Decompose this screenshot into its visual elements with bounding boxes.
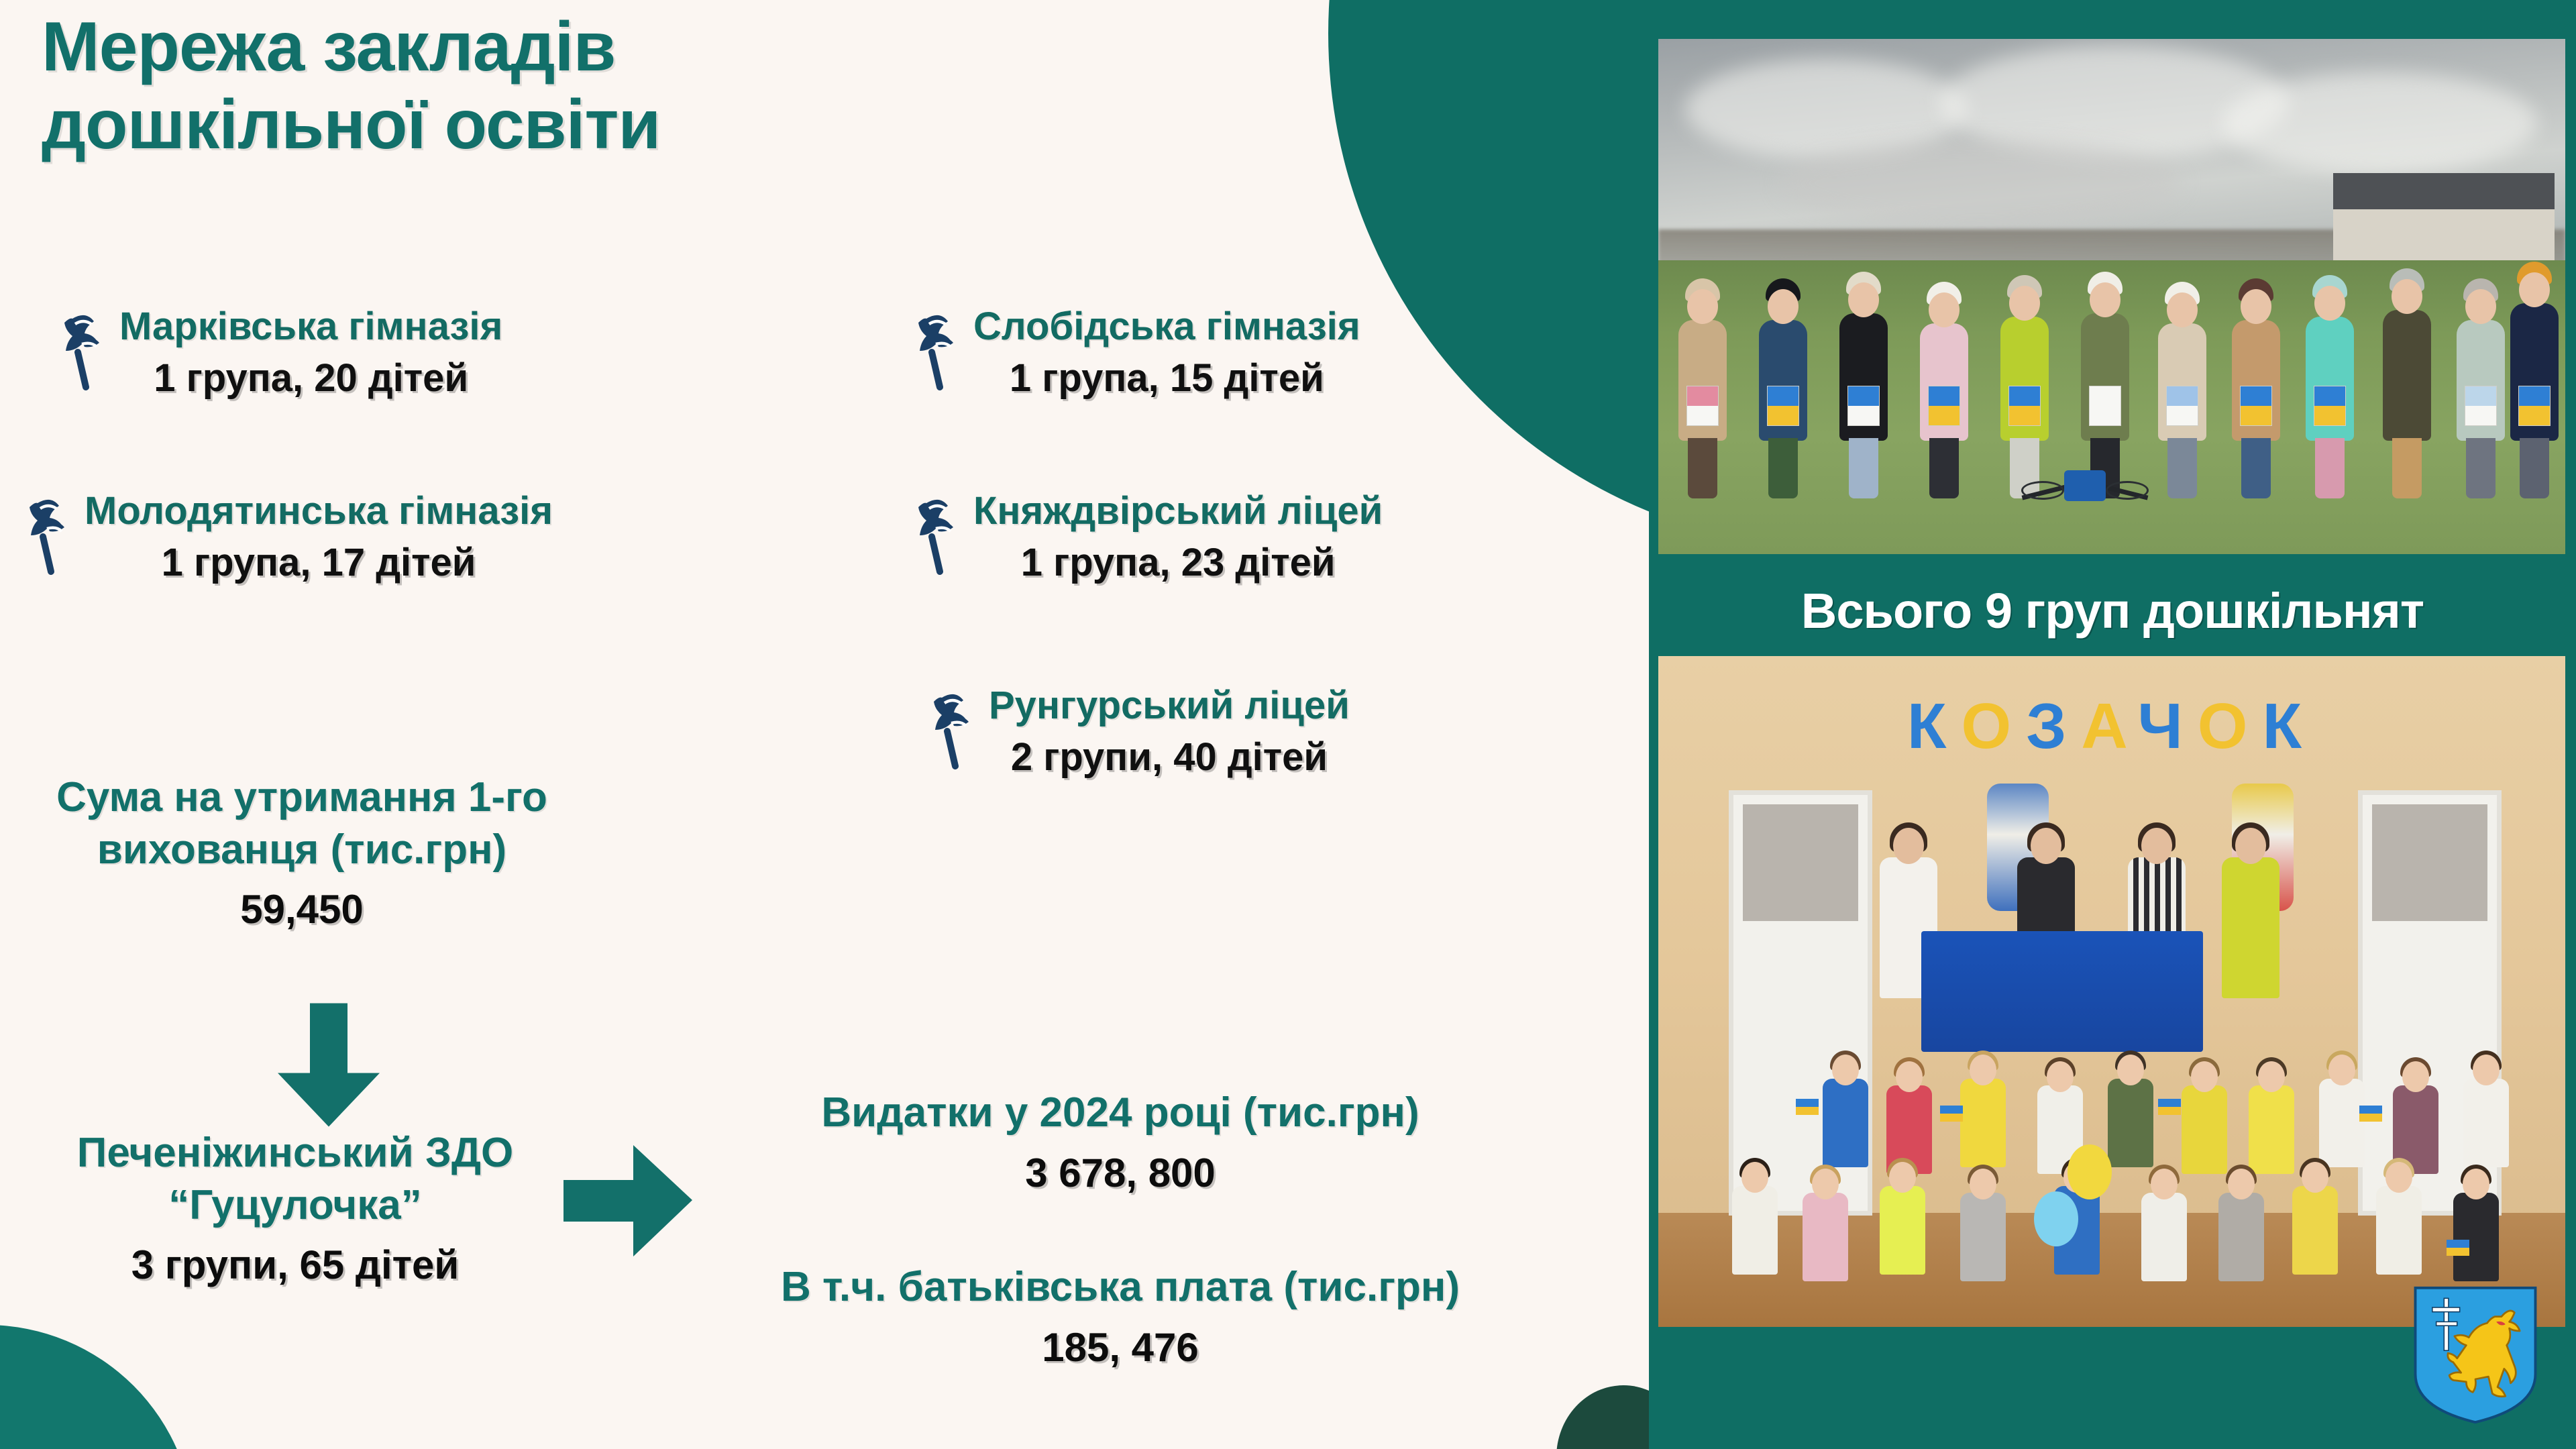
child-head <box>1741 1162 1768 1193</box>
photo1-child <box>2457 320 2505 441</box>
institution-detail: 1 група, 20 дітей <box>119 356 502 400</box>
photo1-child-head <box>1848 282 1879 317</box>
photo1-child-head <box>2167 292 2198 327</box>
photo2-wall-word: КОЗАЧОК <box>1658 690 2565 763</box>
photo1-child <box>1920 323 1968 441</box>
institution-item-knyazhdvirskyi[interactable]: Княждвірський ліцей 1 група, 23 дітей <box>909 490 1383 585</box>
child-head <box>2117 1055 2144 1085</box>
pushpin-icon <box>909 494 965 577</box>
photo2-child <box>1880 1186 1925 1275</box>
photo1-child-legs <box>2466 438 2495 498</box>
photo1-drone <box>2021 465 2149 508</box>
photo2-child <box>1960 1193 2006 1281</box>
photo1-child-legs <box>2315 438 2345 498</box>
door-glass <box>2372 804 2487 921</box>
photo1-child <box>2081 313 2129 441</box>
photo1-child-legs <box>2392 438 2422 498</box>
parent-fee-label: В т.ч. батьківська плата (тис.грн) <box>678 1261 1563 1313</box>
door-glass <box>1743 804 1858 921</box>
photo1-child <box>2158 323 2206 441</box>
photo1-child-head <box>2519 272 2550 307</box>
child-head <box>2228 1169 2255 1199</box>
arrow-down-icon <box>262 1003 396 1130</box>
photo2-child <box>2182 1085 2227 1174</box>
photo1-drawing <box>2465 386 2497 426</box>
photo2-child <box>2249 1085 2294 1174</box>
photo-children-outdoors <box>1658 39 2565 554</box>
institution-item-molodyatynska[interactable]: Молодятинська гімназія 1 група, 17 дітей <box>20 490 553 585</box>
photo1-drawing <box>1767 386 1799 426</box>
photo1-child-head <box>1768 289 1799 324</box>
photo2-child <box>2108 1079 2153 1167</box>
child-head <box>1812 1169 1839 1199</box>
photo1-child-legs <box>1849 438 1878 498</box>
photo1-child <box>2510 303 2559 441</box>
photo2-child <box>1960 1079 2006 1167</box>
photo1-child-legs <box>2167 438 2197 498</box>
photo2-child <box>2218 1193 2264 1281</box>
expenses-block: Видатки у 2024 році (тис.грн) 3 678, 800 <box>678 1087 1563 1196</box>
photo1-drawing <box>1928 386 1960 426</box>
child-head <box>1970 1169 1996 1199</box>
photo1-child <box>2000 317 2049 441</box>
photo1-child <box>2383 310 2431 441</box>
photo1-child-head <box>1929 292 1960 327</box>
photo2-child <box>2319 1079 2365 1167</box>
page-title-line1: Мережа закладів <box>42 8 914 86</box>
photo1-child-head <box>2241 289 2271 324</box>
teacher-head <box>2031 828 2061 864</box>
institution-body: Марківська гімназія 1 група, 20 дітей <box>119 305 502 400</box>
photo1-drawing <box>1686 386 1719 426</box>
institution-body: Княждвірський ліцей 1 група, 23 дітей <box>973 490 1383 585</box>
photo1-child-head <box>2090 282 2121 317</box>
child-head <box>2258 1061 2285 1092</box>
expenses-value: 3 678, 800 <box>678 1150 1563 1196</box>
photo2-child <box>2292 1186 2338 1275</box>
photo2-mini-flag <box>1940 1106 1963 1122</box>
page-title-line2: дошкільної освіти <box>42 86 914 164</box>
institution-item-markivska[interactable]: Марківська гімназія 1 група, 20 дітей <box>55 305 502 400</box>
photo2-balloon-blue <box>2034 1191 2078 1246</box>
institution-detail: 1 група, 23 дітей <box>973 540 1383 585</box>
photo1-cloud <box>1779 140 2182 227</box>
photo1-child-legs <box>2241 438 2271 498</box>
photo1-child-head <box>2392 279 2422 314</box>
cost-per-child-block: Сума на утримання 1-го вихованця (тис.гр… <box>0 771 604 932</box>
child-head <box>1889 1162 1916 1193</box>
slide-root: КОЗАЧОК <box>0 0 2576 1449</box>
panel-caption-total-groups: Всього 9 груп дошкільнят <box>1649 572 2576 649</box>
photo2-child <box>2453 1193 2499 1281</box>
child-head <box>2151 1169 2178 1199</box>
child-head <box>2191 1061 2218 1092</box>
photo1-child-head <box>2465 289 2496 324</box>
institution-item-rungurskyi[interactable]: Рунгурський ліцей 2 групи, 40 дітей <box>924 684 1350 780</box>
photo2-child <box>1823 1079 1868 1167</box>
institution-name: Марківська гімназія <box>119 305 502 349</box>
photo2-child <box>2141 1193 2187 1281</box>
institution-body: Молодятинська гімназія 1 група, 17 дітей <box>85 490 553 585</box>
photo2-balloon-yellow <box>2068 1144 2112 1199</box>
kindergarten-block: Печеніжинський ЗДО “Гуцулочка” 3 групи, … <box>0 1127 590 1288</box>
photo2-child <box>1732 1186 1778 1275</box>
photo2-teacher <box>2222 857 2279 998</box>
photo1-child-legs <box>1688 438 1717 498</box>
photo1-child-head <box>2009 286 2040 321</box>
photo1-child <box>2232 320 2280 441</box>
photo1-drawing <box>2240 386 2272 426</box>
cost-per-child-label-line2: вихованця (тис.грн) <box>0 824 604 876</box>
drone-body <box>2064 470 2106 501</box>
child-head <box>2385 1162 2412 1193</box>
child-head <box>2328 1055 2355 1085</box>
photo2-child <box>1803 1193 1848 1281</box>
child-head <box>2047 1061 2074 1092</box>
institution-detail: 1 група, 15 дітей <box>973 356 1360 400</box>
child-head <box>2473 1055 2500 1085</box>
child-head <box>1970 1055 1996 1085</box>
pushpin-icon <box>20 494 76 577</box>
parent-fee-block: В т.ч. батьківська плата (тис.грн) 185, … <box>678 1261 1563 1371</box>
photo1-child-legs <box>1768 438 1798 498</box>
photo1-drawing <box>2314 386 2346 426</box>
photo1-child <box>1759 320 1807 441</box>
cost-per-child-label-line1: Сума на утримання 1-го <box>0 771 604 824</box>
pushpin-icon <box>909 309 965 392</box>
institution-body: Слобідська гімназія 1 група, 15 дітей <box>973 305 1360 400</box>
photo2-blue-flag <box>1921 931 2203 1052</box>
institution-detail: 2 групи, 40 дітей <box>989 735 1350 780</box>
teacher-head <box>2141 828 2172 864</box>
pushpin-icon <box>55 309 111 392</box>
photo1-drawing <box>2166 386 2198 426</box>
photo1-child-head <box>2314 286 2345 321</box>
photo1-child <box>2306 317 2354 441</box>
photo2-mini-flag <box>2447 1240 2469 1256</box>
photo2-child <box>2376 1186 2422 1275</box>
decorative-circle-bottom-left <box>0 1325 195 1449</box>
institution-name: Рунгурський ліцей <box>989 684 1350 728</box>
photo1-drawing <box>2008 386 2041 426</box>
child-head <box>2463 1169 2489 1199</box>
institution-body: Рунгурський ліцей 2 групи, 40 дітей <box>989 684 1350 780</box>
photo2-mini-flag <box>1796 1099 1819 1115</box>
photo1-drawing <box>1847 386 1880 426</box>
kindergarten-name-line2: “Гуцулочка” <box>0 1179 590 1232</box>
expenses-label: Видатки у 2024 році (тис.грн) <box>678 1087 1563 1139</box>
photo1-child-head <box>1687 289 1718 324</box>
kindergarten-name-line1: Печеніжинський ЗДО <box>0 1127 590 1179</box>
teacher-head <box>2235 828 2266 864</box>
institution-detail: 1 група, 17 дітей <box>85 540 553 585</box>
photo1-drawing <box>2089 386 2121 426</box>
photo-kindergarten-group: КОЗАЧОК <box>1658 656 2565 1327</box>
institution-name: Слобідська гімназія <box>973 305 1360 349</box>
institution-name: Молодятинська гімназія <box>85 490 553 533</box>
pushpin-icon <box>924 688 981 771</box>
child-head <box>1832 1055 1859 1085</box>
photo2-mini-flag <box>2359 1106 2382 1122</box>
drone-rotor <box>2106 481 2149 500</box>
photo1-child <box>1839 313 1888 441</box>
photo2-child <box>2463 1079 2509 1167</box>
child-head <box>1896 1061 1923 1092</box>
page-title: Мережа закладів дошкільної освіти <box>42 8 914 164</box>
institution-item-slobidska[interactable]: Слобідська гімназія 1 група, 15 дітей <box>909 305 1360 400</box>
child-head <box>2402 1061 2429 1092</box>
drone-rotor <box>2021 481 2064 500</box>
photo2-mini-flag <box>2158 1099 2181 1115</box>
teacher-head <box>1893 828 1924 864</box>
parent-fee-value: 185, 476 <box>678 1324 1563 1371</box>
institution-name: Княждвірський ліцей <box>973 490 1383 533</box>
cost-per-child-value: 59,450 <box>0 886 604 932</box>
kindergarten-detail: 3 групи, 65 дітей <box>0 1242 590 1288</box>
photo1-cloud <box>2222 72 2537 173</box>
photo1-child-legs <box>1929 438 1959 498</box>
coat-of-arms-lion-icon <box>2410 1283 2541 1426</box>
photo1-child <box>1678 320 1727 441</box>
photo1-child-legs <box>2520 438 2549 498</box>
photo1-drawing <box>2518 386 2551 426</box>
child-head <box>2302 1162 2328 1193</box>
